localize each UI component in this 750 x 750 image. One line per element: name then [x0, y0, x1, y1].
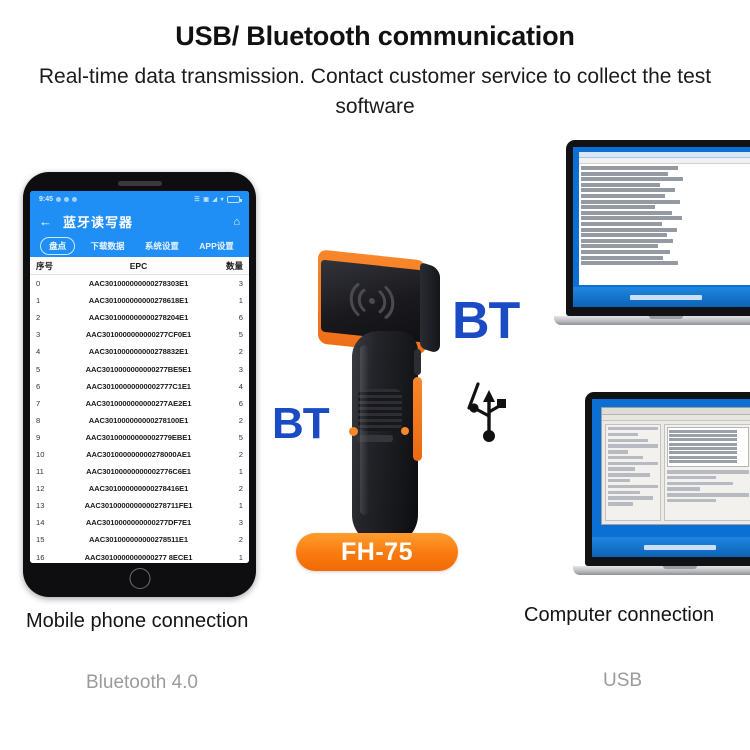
cell-epc: AAC30100000000002777C1E1 [60, 382, 217, 391]
cell-qty: 1 [217, 467, 243, 476]
device-side-button[interactable] [414, 349, 421, 375]
signal-icon: ☰ [194, 196, 200, 203]
status-icon-2 [64, 197, 69, 202]
table-row[interactable]: 13AAC3010000000000278711FE11 [30, 497, 249, 514]
phone-screen: 9:45 ☰ ▣ ◢ ▾ ← 蓝牙读写器 ⌂ 盘点 下载数据 系统设置 APP设… [30, 191, 249, 563]
dialog-left-panel [605, 424, 661, 521]
page-title: USB/ Bluetooth communication [0, 22, 750, 52]
tab-system-settings[interactable]: 系统设置 [140, 238, 184, 254]
caption-mobile-sub: Bluetooth 4.0 [86, 672, 198, 694]
dialog-field-e[interactable] [667, 493, 749, 496]
bt-label-right: BT [452, 295, 519, 347]
cell-index: 5 [36, 365, 60, 374]
mobile-phone-mockup: 9:45 ☰ ▣ ◢ ▾ ← 蓝牙读写器 ⌂ 盘点 下载数据 系统设置 APP设… [23, 172, 256, 597]
back-arrow-icon[interactable]: ← [39, 215, 52, 228]
phone-speaker-icon [118, 181, 162, 186]
status-bar-time: 9:45 [39, 196, 53, 203]
laptop-bottom-lid [585, 392, 750, 566]
cell-epc: AAC3010000000000277AE2E1 [60, 399, 217, 408]
window-data-row [581, 222, 662, 226]
table-row[interactable]: 10AAC301000000000278000AE12 [30, 446, 249, 463]
dialog-field[interactable] [608, 502, 633, 505]
table-header: 序号 EPC 数量 [30, 257, 249, 275]
window-data-row [581, 244, 658, 248]
cell-qty: 3 [217, 518, 243, 527]
cell-qty: 4 [217, 382, 243, 391]
dialog-field-a[interactable] [667, 470, 749, 473]
window-data-row [581, 256, 663, 260]
cell-epc: AAC301000000000278000AE1 [60, 450, 217, 459]
window-data-row [581, 211, 672, 215]
device-indicator-left [349, 427, 358, 436]
dialog-field[interactable] [608, 456, 643, 459]
phone-tab-bar: 盘点 下载数据 系统设置 APP设置 [30, 235, 249, 257]
cell-epc: AAC301000000000278416E1 [60, 484, 217, 493]
page-header: USB/ Bluetooth communication Real-time d… [0, 0, 750, 123]
cell-qty: 2 [217, 484, 243, 493]
phone-status-bar: 9:45 ☰ ▣ ◢ ▾ [30, 191, 249, 208]
device-side-strip [413, 377, 422, 461]
cell-epc: AAC301000000000278511E1 [60, 535, 217, 544]
window-data-row [581, 183, 660, 187]
device-model-badge: FH-75 [296, 533, 458, 571]
cell-index: 2 [36, 313, 60, 322]
cell-qty: 2 [217, 347, 243, 356]
cell-index: 13 [36, 501, 60, 510]
laptop-bottom-base [573, 566, 750, 575]
table-row[interactable]: 16AAC3010000000000277 8ECE11 [30, 549, 249, 564]
cell-index: 12 [36, 484, 60, 493]
device-indicator-right [401, 427, 409, 435]
device-grip [358, 389, 402, 431]
device-head-face [321, 260, 423, 343]
window-data-row [581, 205, 655, 209]
usb-icon [466, 382, 512, 444]
dialog-grid-row [669, 460, 737, 463]
tab-app-settings[interactable]: APP设置 [194, 238, 238, 254]
tab-download-data[interactable]: 下载数据 [86, 238, 130, 254]
tag-list[interactable]: 0AAC301000000000278303E131AAC30100000000… [30, 275, 249, 563]
dialog-grid-row [669, 456, 737, 459]
table-row[interactable]: 9AAC30100000000002779EBE15 [30, 429, 249, 446]
dialog-title-bar [602, 408, 750, 415]
table-row[interactable]: 5AAC3010000000000277BE5E13 [30, 360, 249, 377]
window-data-row [581, 172, 668, 176]
dialog-field-f[interactable] [667, 499, 716, 502]
caption-mobile: Mobile phone connection [26, 610, 248, 633]
window-data-row [581, 188, 675, 192]
cell-index: 3 [36, 330, 60, 339]
taskbar-bottom [592, 537, 750, 557]
window-data-row [581, 166, 678, 170]
cell-qty: 2 [217, 416, 243, 425]
cell-epc: AAC30100000000002776C6E1 [60, 467, 217, 476]
laptop-top [566, 140, 750, 325]
configuration-dialog[interactable] [601, 407, 750, 525]
cell-index: 9 [36, 433, 60, 442]
wifi-icon: ▾ [220, 196, 224, 203]
cell-index: 6 [36, 382, 60, 391]
dialog-data-grid[interactable] [667, 427, 749, 467]
dialog-field[interactable] [608, 439, 648, 442]
cell-qty: 5 [217, 330, 243, 339]
cell-epc: AAC30100000000002779EBE1 [60, 433, 217, 442]
window-data-row [581, 250, 670, 254]
dialog-field[interactable] [608, 485, 658, 488]
table-row[interactable]: 4AAC301000000000278832E12 [30, 343, 249, 360]
table-row[interactable]: 2AAC301000000000278204E16 [30, 309, 249, 326]
dialog-field[interactable] [608, 462, 658, 465]
laptop-top-base [554, 316, 750, 325]
cell-epc: AAC301000000000278204E1 [60, 313, 217, 322]
cell-qty: 6 [217, 399, 243, 408]
table-row[interactable]: 11AAC30100000000002776C6E11 [30, 463, 249, 480]
cell-epc: AAC3010000000000277BE5E1 [60, 365, 217, 374]
tab-inventory[interactable]: 盘点 [40, 237, 75, 255]
app-title: 蓝牙读写器 [63, 212, 222, 231]
column-header-epc: EPC [60, 261, 217, 271]
dialog-field[interactable] [608, 444, 658, 447]
cell-qty: 1 [217, 501, 243, 510]
device-trigger-button[interactable] [357, 435, 393, 442]
dialog-field[interactable] [608, 496, 653, 499]
cell-qty: 1 [217, 553, 243, 562]
dialog-grid-row [669, 447, 737, 450]
phone-home-button[interactable] [129, 568, 150, 589]
cell-index: 4 [36, 347, 60, 356]
device-head-side [420, 262, 440, 354]
window-data-row [581, 239, 673, 243]
cell-epc: AAC301000000000278618E1 [60, 296, 217, 305]
dialog-field[interactable] [608, 479, 630, 482]
cell-qty: 2 [217, 535, 243, 544]
column-header-qty: 数量 [217, 260, 243, 272]
dialog-field-b[interactable] [667, 476, 716, 479]
laptop-top-lid [566, 140, 750, 316]
cell-qty: 3 [217, 365, 243, 374]
window-data-row [581, 233, 667, 237]
dialog-field[interactable] [608, 467, 635, 470]
cell-epc: AAC301000000000278303E1 [60, 279, 217, 288]
table-row[interactable]: 14AAC3010000000000277DF7E13 [30, 514, 249, 531]
laptop-bottom [585, 392, 750, 575]
battery-icon [227, 196, 240, 203]
dialog-field[interactable] [608, 433, 638, 436]
caption-computer: Computer connection [524, 604, 714, 627]
dialog-right-panel [664, 424, 750, 521]
table-row[interactable]: 1AAC301000000000278618E11 [30, 292, 249, 309]
dialog-grid-row [669, 430, 737, 433]
cell-epc: AAC3010000000000277 8ECE1 [60, 553, 217, 562]
laptop-top-screen [573, 147, 750, 307]
window-data-row [581, 216, 682, 220]
device-handle [352, 331, 418, 545]
window-data-row [581, 194, 665, 198]
cell-qty: 3 [217, 279, 243, 288]
window-data-row [581, 200, 680, 204]
dialog-grid-row [669, 451, 737, 454]
table-row[interactable]: 7AAC3010000000000277AE2E16 [30, 395, 249, 412]
cell-index: 15 [36, 535, 60, 544]
cell-qty: 5 [217, 433, 243, 442]
cell-index: 8 [36, 416, 60, 425]
dialog-grid-row [669, 443, 737, 446]
cell-index: 0 [36, 279, 60, 288]
cell-epc: AAC3010000000000277DF7E1 [60, 518, 217, 527]
cell-index: 14 [36, 518, 60, 527]
page-subtitle: Real-time data transmission. Contact cus… [0, 62, 750, 123]
column-header-index: 序号 [36, 260, 60, 272]
table-row[interactable]: 0AAC301000000000278303E13 [30, 275, 249, 292]
dialog-field-d[interactable] [667, 487, 700, 490]
dialog-grid-row [669, 434, 737, 437]
table-row[interactable]: 15AAC301000000000278511E12 [30, 531, 249, 548]
dialog-field[interactable] [608, 491, 640, 494]
window-data-rows [579, 164, 750, 265]
table-row[interactable]: 3AAC3010000000000277CF0E15 [30, 326, 249, 343]
taskbar-bottom-label [644, 545, 716, 550]
status-icon-1 [56, 197, 61, 202]
dialog-body [602, 421, 750, 524]
cell-epc: AAC3010000000000278711FE1 [60, 501, 217, 510]
dialog-field-c[interactable] [667, 482, 733, 485]
taskbar [573, 287, 750, 307]
cell-qty: 2 [217, 450, 243, 459]
cell-index: 1 [36, 296, 60, 305]
cell-epc: AAC301000000000278100E1 [60, 416, 217, 425]
cell-index: 10 [36, 450, 60, 459]
window-data-row [581, 177, 683, 181]
cell-epc: AAC3010000000000277CF0E1 [60, 330, 217, 339]
phone-app-bar: ← 蓝牙读写器 ⌂ [30, 208, 249, 235]
signal-bars-icon: ◢ [212, 196, 217, 203]
cell-qty: 1 [217, 296, 243, 305]
table-row[interactable]: 8AAC301000000000278100E12 [30, 412, 249, 429]
bt-label-left: BT [272, 402, 329, 446]
sim-icon: ▣ [203, 196, 209, 203]
cell-index: 16 [36, 553, 60, 562]
window-data-row [581, 228, 677, 232]
table-row[interactable]: 6AAC30100000000002777C1E14 [30, 378, 249, 395]
desktop-app-window[interactable] [579, 152, 750, 285]
caption-computer-sub: USB [603, 670, 642, 692]
home-icon[interactable]: ⌂ [233, 216, 240, 228]
taskbar-label [630, 295, 702, 300]
dialog-field[interactable] [608, 473, 650, 476]
rfid-wave-icon [342, 278, 402, 324]
dialog-field[interactable] [608, 450, 628, 453]
cell-index: 11 [36, 467, 60, 476]
dialog-grid-row [669, 438, 737, 441]
window-data-row [581, 261, 678, 265]
status-icon-3 [72, 197, 77, 202]
laptop-bottom-screen [592, 399, 750, 557]
dialog-field[interactable] [608, 427, 658, 430]
cell-index: 7 [36, 399, 60, 408]
table-row[interactable]: 12AAC301000000000278416E12 [30, 480, 249, 497]
cell-epc: AAC301000000000278832E1 [60, 347, 217, 356]
cell-qty: 6 [217, 313, 243, 322]
